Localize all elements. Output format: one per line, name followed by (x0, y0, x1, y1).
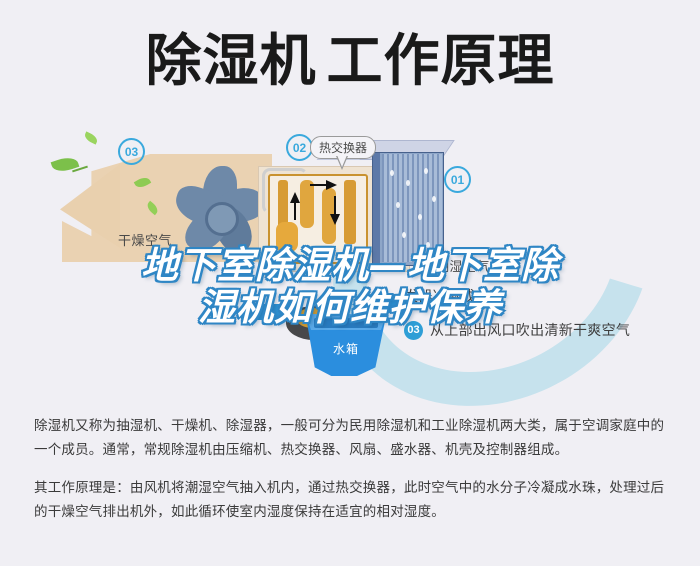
step-text: 从上部出风口吹出清新干爽空气 (430, 320, 630, 340)
flow-arrow-stem (334, 196, 336, 214)
page-title-part2: 工作原理 (327, 29, 555, 94)
coil-segment (344, 180, 356, 244)
coil-segment (300, 180, 314, 228)
step-text: 发器冷凝成水珠 (404, 286, 504, 306)
heat-exchanger-label: 热交换器 (319, 141, 367, 155)
humid-air-label: 潮湿空气 (436, 256, 490, 275)
body-paragraph-1: 除湿机又称为抽湿机、干燥机、除湿器，一般可分为民用除湿机和工业除湿机两大类，属于… (34, 414, 670, 462)
title-band: 除湿机工作原理 (0, 18, 700, 106)
condensation-drops (384, 162, 440, 258)
badge-02-label: 02 (293, 141, 306, 155)
flow-arrow-stem (294, 202, 296, 220)
fan-hub (205, 202, 239, 236)
badge-03-label: 03 (125, 145, 138, 159)
water-tank-label: 水箱 (300, 340, 392, 357)
flow-arrow-up-icon (290, 192, 300, 203)
dry-air-label: 干燥空气 (118, 230, 172, 249)
badge-03-step-label: 03 (407, 324, 419, 336)
diagram-stage: 03 干燥空气 (0, 118, 700, 404)
step-item: 03 从上部出风口吹出清新干爽空气 (404, 320, 694, 340)
body-paragraph-2: 其工作原理是：由风机将潮湿空气抽入机内，通过热交换器，此时空气中的水分子冷凝成水… (34, 476, 670, 524)
badge-03-step-icon: 03 (404, 321, 423, 340)
compressor-body (276, 222, 298, 252)
flow-arrow-stem (310, 184, 326, 186)
fan-icon (165, 160, 269, 264)
badge-02-heat-exchanger: 02 (286, 134, 313, 161)
flow-arrow-right-icon (326, 180, 337, 190)
page-title: 除湿机工作原理 (146, 34, 555, 90)
badge-01-humid-air: 01 (444, 166, 471, 193)
step-item: 发器冷凝成水珠 (404, 286, 694, 306)
water-tank-opening (314, 318, 378, 328)
step-list: 发器冷凝成水珠 03 从上部出风口吹出清新干爽空气 (404, 286, 694, 354)
callout-tail-inner-icon (337, 155, 347, 167)
article-body: 除湿机又称为抽湿机、干燥机、除湿器，一般可分为民用除湿机和工业除湿机两大类，属于… (34, 414, 670, 538)
page-root: 除湿机工作原理 03 干燥空气 (0, 0, 700, 566)
badge-01-label: 01 (451, 173, 464, 187)
page-title-part1: 除湿机 (146, 29, 317, 94)
flow-arrow-down-icon (330, 214, 340, 225)
badge-03-dry-air: 03 (118, 138, 145, 165)
leaf-icon (83, 131, 99, 144)
